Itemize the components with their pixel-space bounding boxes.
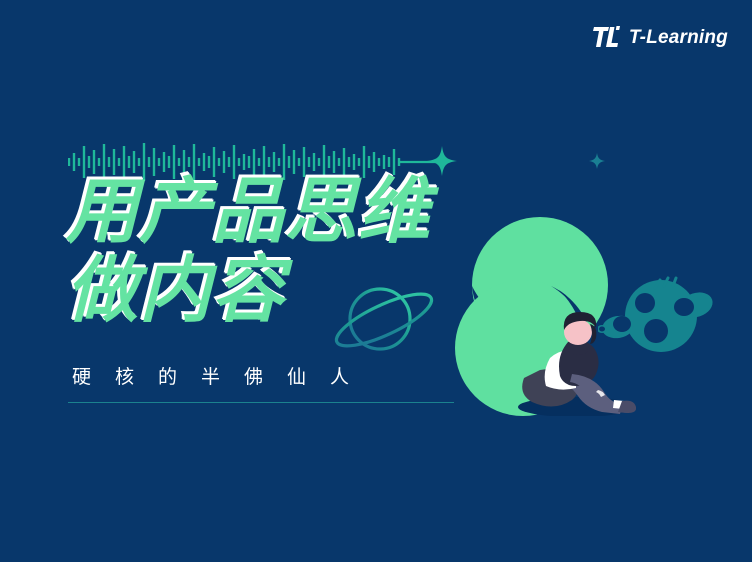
subtitle-underline (68, 402, 454, 403)
headline-line-1: 用产品思维 (66, 176, 526, 247)
headline-block: 用产品思维 做内容 (66, 176, 526, 325)
cratered-asteroid-icon (598, 272, 716, 356)
brand-logo[interactable]: T-Learning (592, 22, 728, 52)
poster-slide: T-Learning (0, 0, 752, 562)
small-sparkle-icon (589, 153, 605, 169)
brand-name: T-Learning (629, 28, 728, 47)
headline-line-2: 做内容 (66, 255, 526, 326)
subtitle-text: 硬核的半佛仙人 (72, 362, 373, 389)
tl-monogram-icon (592, 24, 622, 50)
